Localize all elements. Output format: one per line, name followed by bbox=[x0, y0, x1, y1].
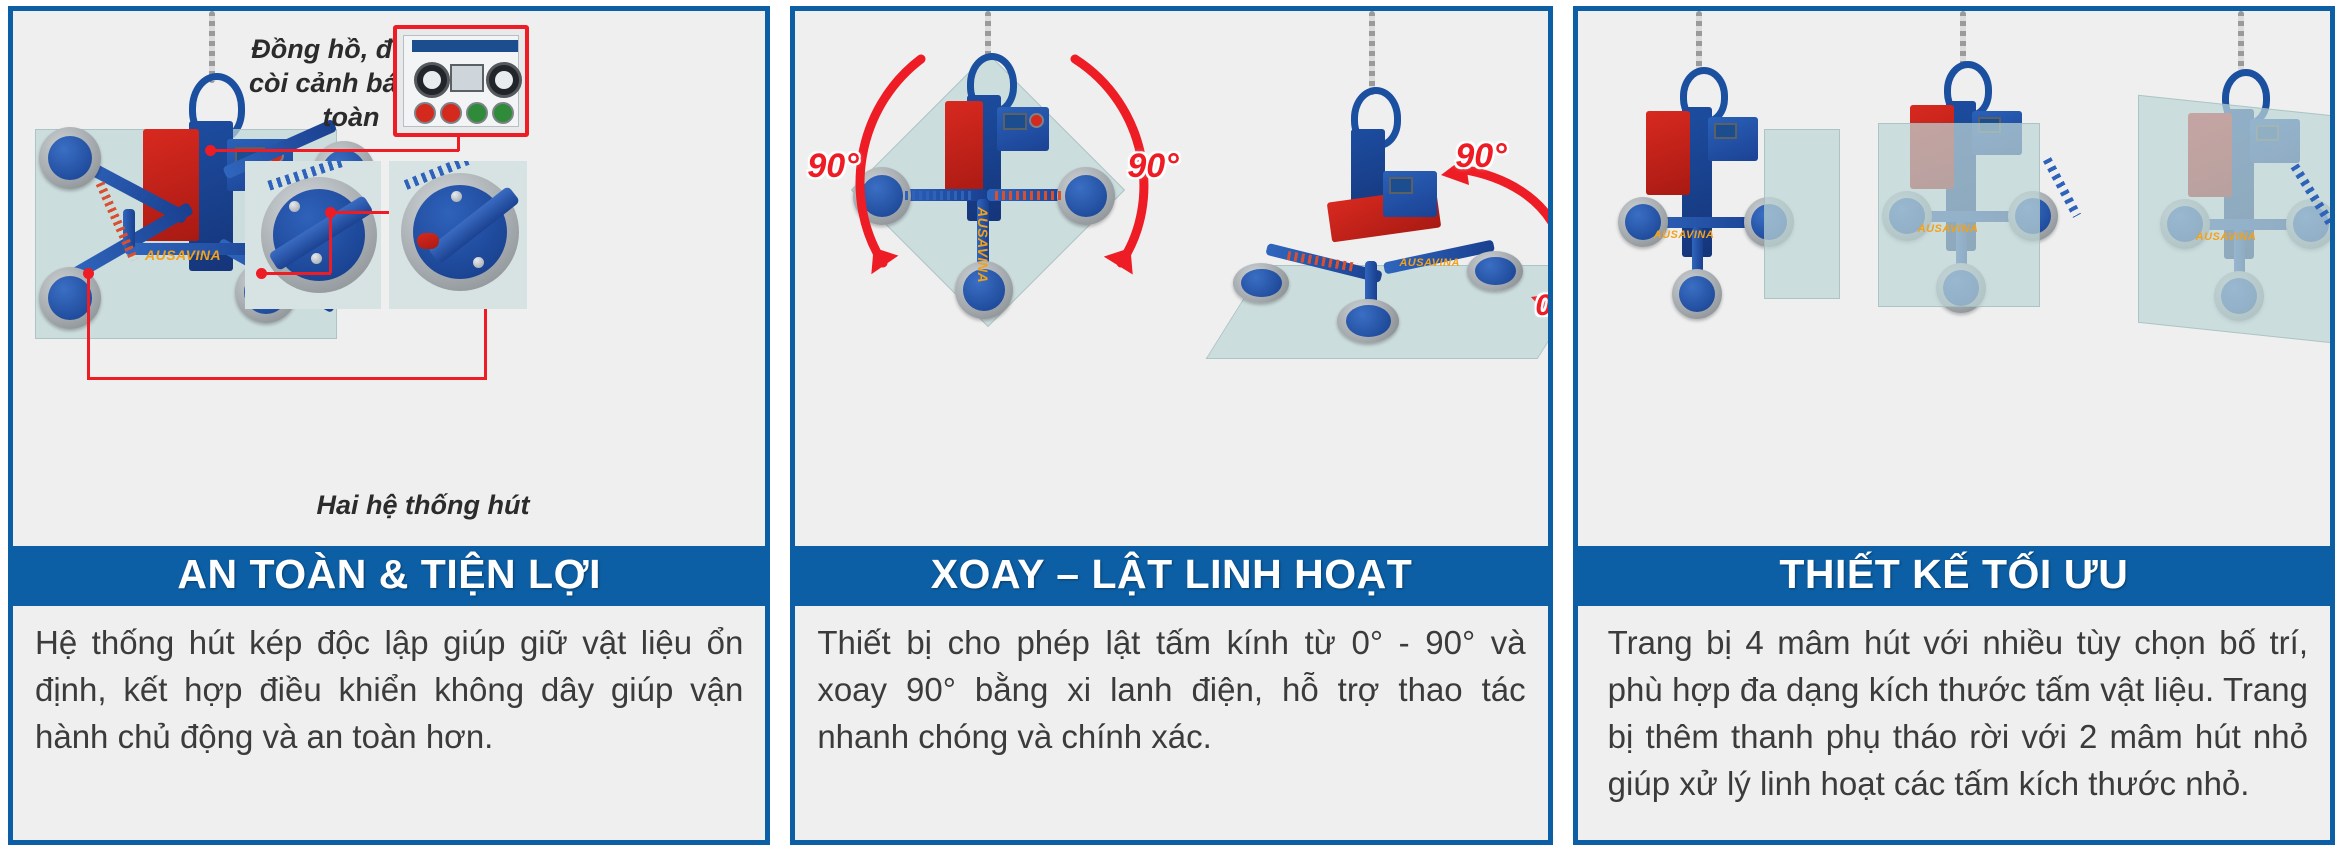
control-button-red-2[interactable] bbox=[440, 102, 462, 124]
control-panel-screen bbox=[450, 64, 484, 92]
connector-sw-up bbox=[484, 309, 487, 379]
connector-se-v bbox=[329, 211, 332, 273]
panel-rotate-body: Thiết bị cho phép lật tấm kính từ 0° - 9… bbox=[795, 606, 1547, 840]
brand-logo-a: AUSAVINA bbox=[1654, 229, 1715, 241]
panel-safety-body: Hệ thống hút kép độc lập giúp giữ vật li… bbox=[13, 606, 765, 840]
dual-suction-callout: Hai hệ thống hút bbox=[303, 489, 543, 523]
panel-rotate-illustration: AUSAVINA 90° 90° bbox=[795, 11, 1547, 546]
connector-se-h bbox=[261, 272, 331, 275]
connector-sw-h bbox=[87, 377, 487, 380]
rig-display-left bbox=[1003, 113, 1027, 130]
rig-red-left bbox=[945, 101, 983, 197]
brand-logo-b: AUSAVINA bbox=[1918, 223, 1979, 235]
connector-sw-v bbox=[87, 272, 90, 380]
panel-design-illustration: AUSAVINA AUSAVINA bbox=[1578, 11, 2330, 546]
control-panel-box bbox=[393, 25, 529, 137]
panel-design-body: Trang bị 4 mâm hút với nhiều tùy chọn bố… bbox=[1578, 606, 2330, 840]
panel-safety-illustration: AUSAVINA Đồng hồ, đèn & còi cảnh báo an … bbox=[13, 11, 765, 546]
panel-safety: AUSAVINA Đồng hồ, đèn & còi cảnh báo an … bbox=[8, 6, 770, 845]
glass-c bbox=[2138, 95, 2330, 347]
panel-rotate-flip: AUSAVINA 90° 90° bbox=[790, 6, 1552, 845]
feature-board: AUSAVINA Đồng hồ, đèn & còi cảnh báo an … bbox=[0, 0, 2343, 851]
detail-bolt-r1 bbox=[451, 191, 462, 202]
chain-icon-left bbox=[985, 11, 991, 57]
control-button-green-1[interactable] bbox=[466, 102, 488, 124]
brand-logo-left: AUSAVINA bbox=[975, 207, 991, 283]
angle-label-flip-top: 90° bbox=[1455, 137, 1506, 176]
detail-bolt-l1 bbox=[289, 201, 300, 212]
gauge-right-icon bbox=[486, 62, 522, 98]
connector-ctrl-h bbox=[209, 149, 459, 152]
detail-knob-right bbox=[417, 233, 439, 249]
connector-dot-machine bbox=[205, 145, 216, 156]
flip-display bbox=[1389, 177, 1413, 194]
brand-logo: AUSAVINA bbox=[145, 247, 221, 263]
glass-a bbox=[1764, 129, 1840, 299]
control-button-red-1[interactable] bbox=[414, 102, 436, 124]
glass-b bbox=[1878, 123, 2040, 307]
suction-cup-nw bbox=[39, 127, 101, 189]
rig-a-display bbox=[1714, 123, 1737, 139]
flip-cup-s bbox=[1337, 299, 1399, 343]
rig-a-red bbox=[1646, 111, 1690, 195]
gauge-left-icon bbox=[414, 62, 450, 98]
chain-icon-a bbox=[1696, 11, 1702, 75]
control-button-green-2[interactable] bbox=[492, 102, 514, 124]
angle-label-right: 90° bbox=[1127, 147, 1178, 186]
panel-rotate-title: XOAY – LẬT LINH HOẠT bbox=[795, 546, 1547, 606]
chain-icon-right bbox=[1369, 11, 1375, 95]
brand-logo-c: AUSAVINA bbox=[2196, 231, 2257, 243]
panel-optimal-design: AUSAVINA AUSAVINA bbox=[1573, 6, 2335, 845]
detail-bolt-r2 bbox=[473, 257, 484, 268]
angle-label-flip-bottom: 0° bbox=[1535, 289, 1547, 323]
detail-bolt-l2 bbox=[311, 253, 322, 264]
chain-icon-c bbox=[2238, 11, 2244, 77]
control-panel-label bbox=[412, 40, 518, 52]
detail-card-right bbox=[389, 161, 527, 309]
angle-label-left: 90° bbox=[807, 147, 858, 186]
control-panel-face bbox=[403, 35, 519, 127]
connector-card-h bbox=[331, 211, 389, 214]
detail-card-left bbox=[245, 161, 381, 309]
flip-cup-w bbox=[1233, 263, 1289, 303]
panel-design-title: THIẾT KẾ TỐI ƯU bbox=[1578, 546, 2330, 606]
rig-a-cup-s bbox=[1672, 269, 1722, 319]
panel-safety-title: AN TOÀN & TIỆN LỢI bbox=[13, 546, 765, 606]
